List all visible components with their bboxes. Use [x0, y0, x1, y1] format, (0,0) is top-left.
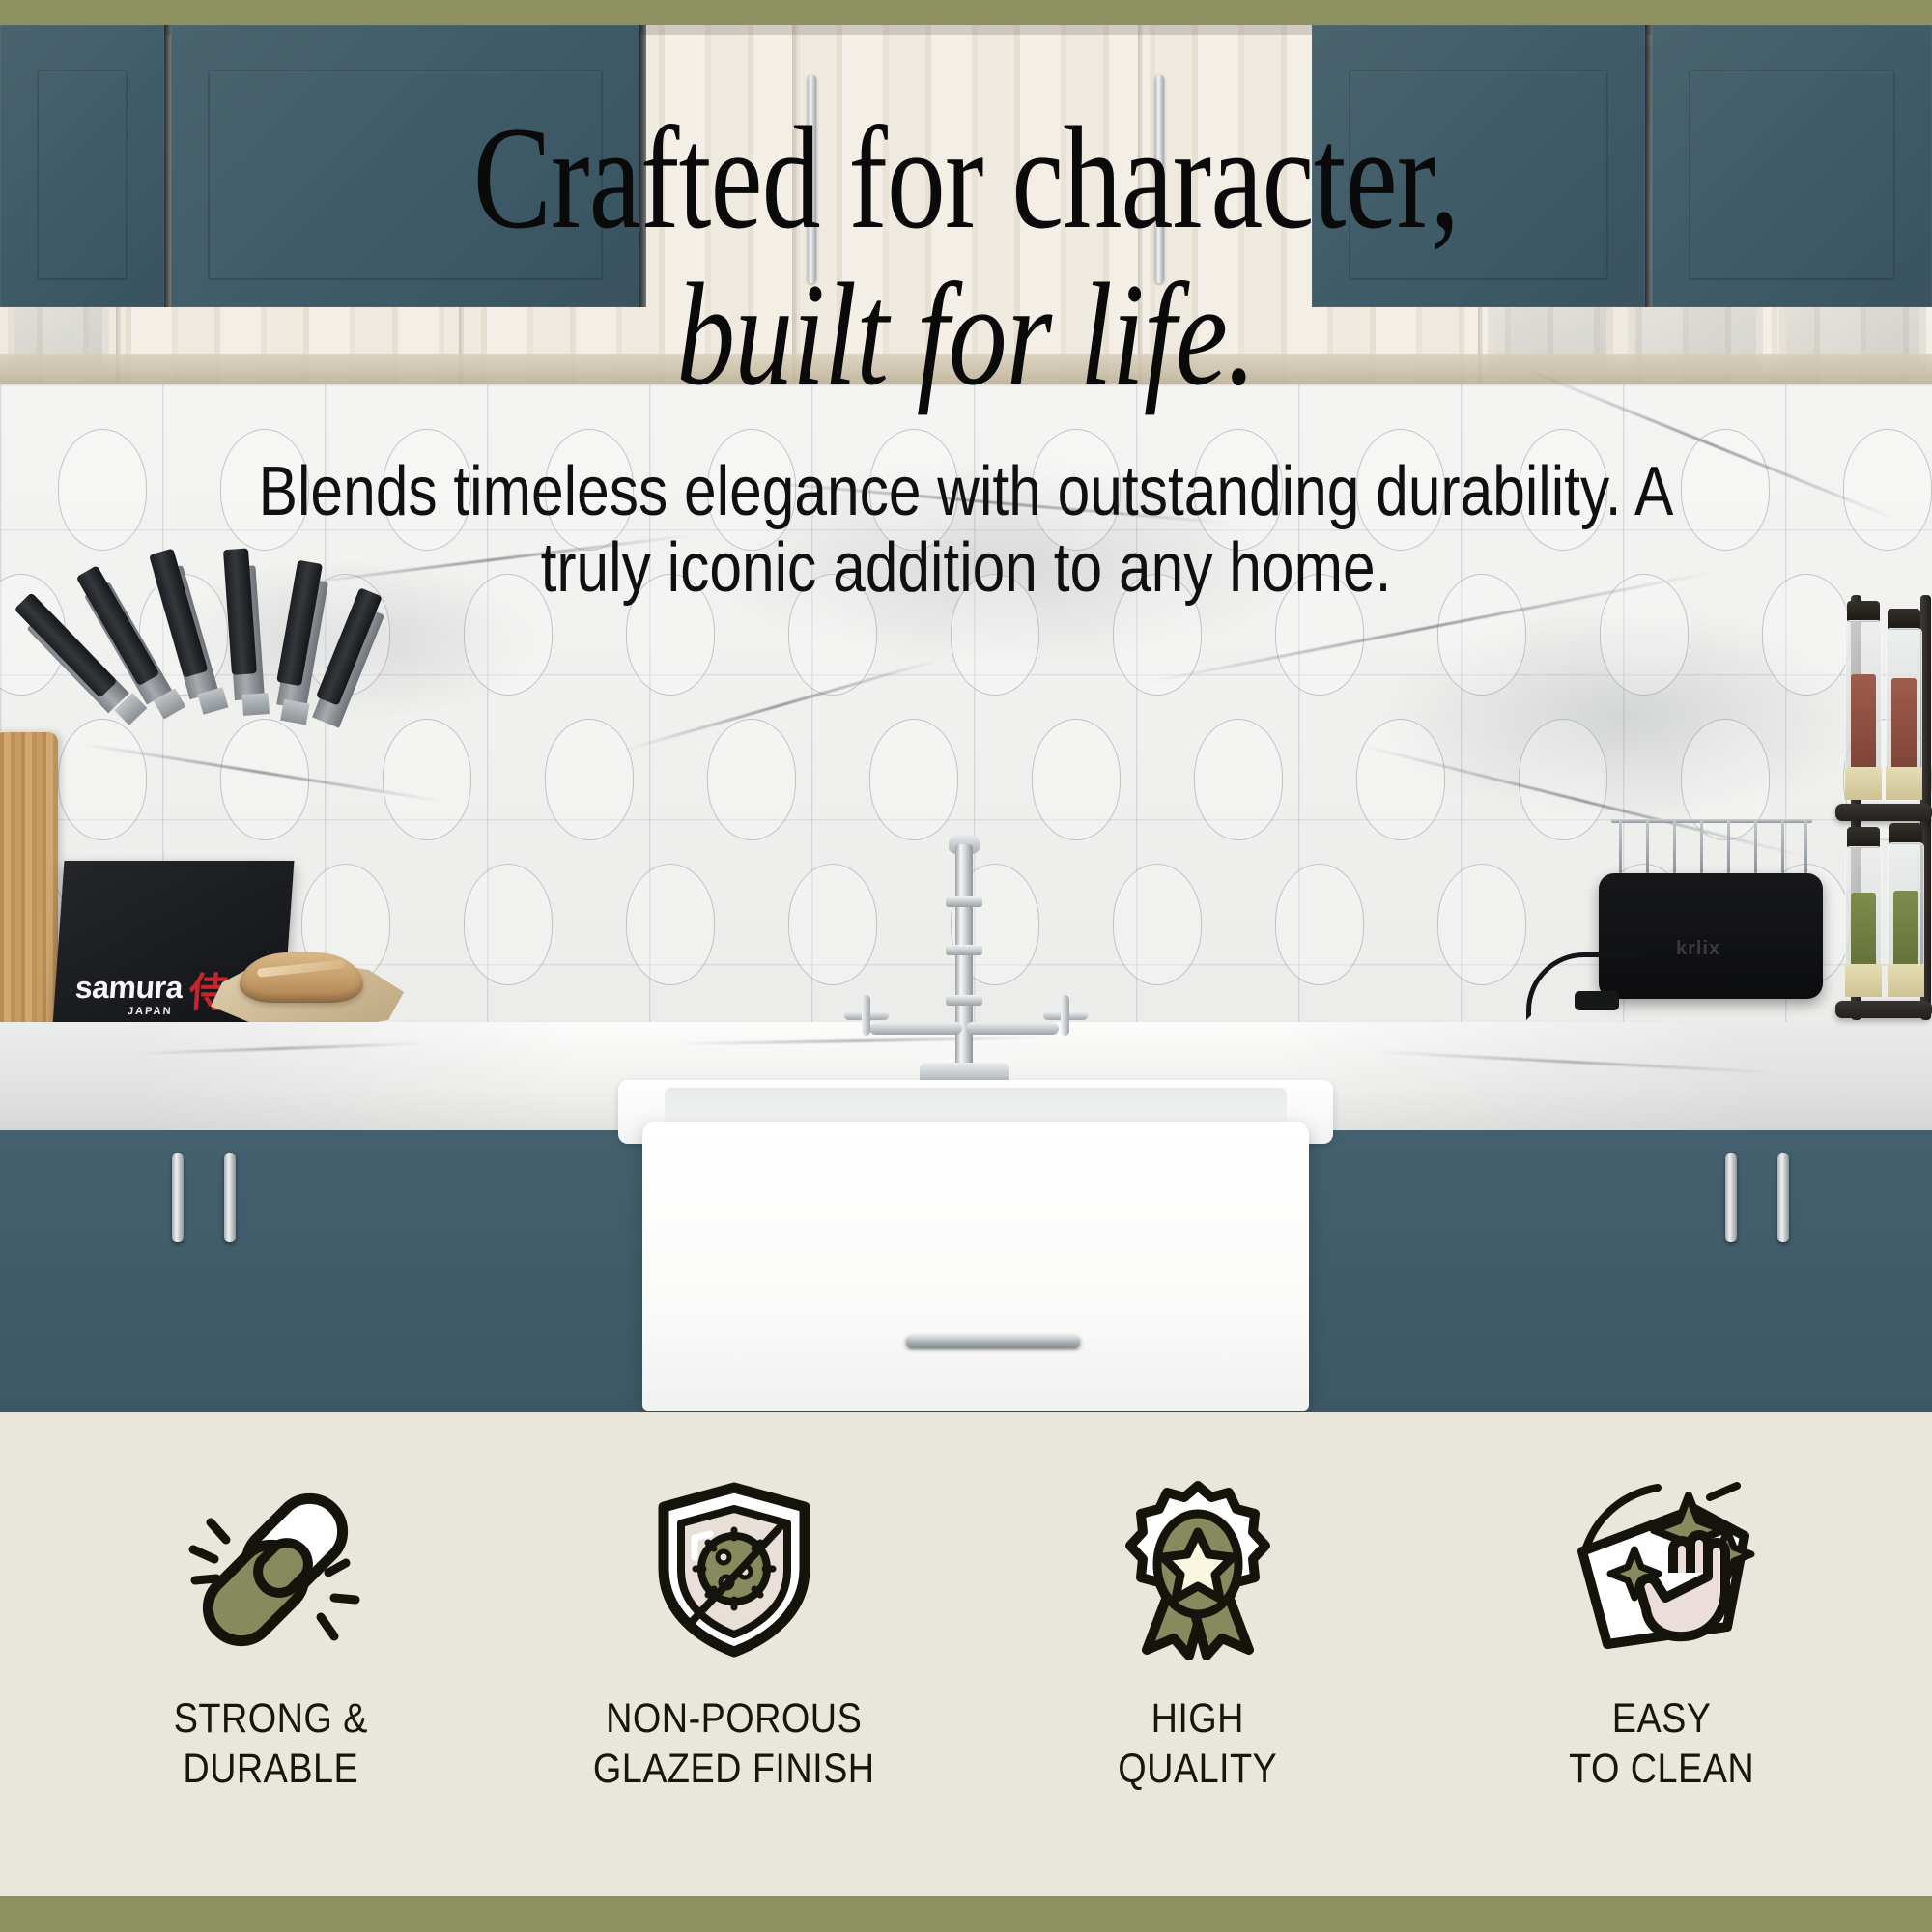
- toaster-rack: [1611, 819, 1812, 873]
- shield-germ-blocked-icon: [644, 1480, 824, 1660]
- cabinet-crown-molding: [0, 354, 1932, 384]
- cabinet-door: [171, 25, 639, 307]
- feature-benefits-bar: STRONG & DURABLE: [0, 1412, 1932, 1896]
- chain-link-icon: [174, 1480, 367, 1660]
- top-accent-band: [0, 0, 1932, 25]
- cabinet-door: [1652, 25, 1932, 307]
- feature-strong-durable: STRONG & DURABLE: [58, 1480, 483, 1794]
- knife-block-brand: samura: [74, 970, 184, 1006]
- feature-label: NON-POROUS GLAZED FINISH: [593, 1694, 875, 1794]
- cabinet-handle: [1155, 75, 1164, 283]
- cabinet-pull: [1777, 1153, 1789, 1242]
- promo-banner: samura 侍 JAPAN: [0, 0, 1932, 1932]
- bread-loaf: [240, 952, 363, 1003]
- cabinet-pull: [172, 1153, 184, 1242]
- cabinet-door: [0, 25, 164, 307]
- farmhouse-sink: [642, 1122, 1309, 1411]
- toaster-brand: krlix: [1676, 938, 1720, 960]
- feature-easy-to-clean: EASY TO CLEAN: [1449, 1480, 1874, 1794]
- knife-block-origin: JAPAN: [128, 1006, 173, 1017]
- bottom-accent-band: [0, 1896, 1932, 1932]
- drawer-pull: [906, 1335, 1080, 1348]
- cabinet-seam: [792, 25, 797, 384]
- kitchen-hero-photo: samura 侍 JAPAN: [0, 25, 1932, 1412]
- feature-label: HIGH QUALITY: [1119, 1694, 1278, 1794]
- cutting-board: [0, 732, 58, 1051]
- feature-non-porous: NON-POROUS GLAZED FINISH: [522, 1480, 947, 1794]
- power-plug: [1575, 991, 1619, 1010]
- sparkle-wipe-hand-icon: [1565, 1480, 1758, 1660]
- feature-high-quality: HIGH QUALITY: [985, 1480, 1410, 1794]
- feature-label: STRONG & DURABLE: [173, 1694, 367, 1794]
- cabinet-handle: [808, 75, 816, 283]
- award-ribbon-star-icon: [1108, 1480, 1288, 1660]
- cabinet-pull: [224, 1153, 236, 1242]
- cabinet-door: [1312, 25, 1645, 307]
- feature-label: EASY TO CLEAN: [1569, 1694, 1754, 1794]
- cabinet-pull: [1725, 1153, 1737, 1242]
- cabinet-seam: [1138, 25, 1143, 384]
